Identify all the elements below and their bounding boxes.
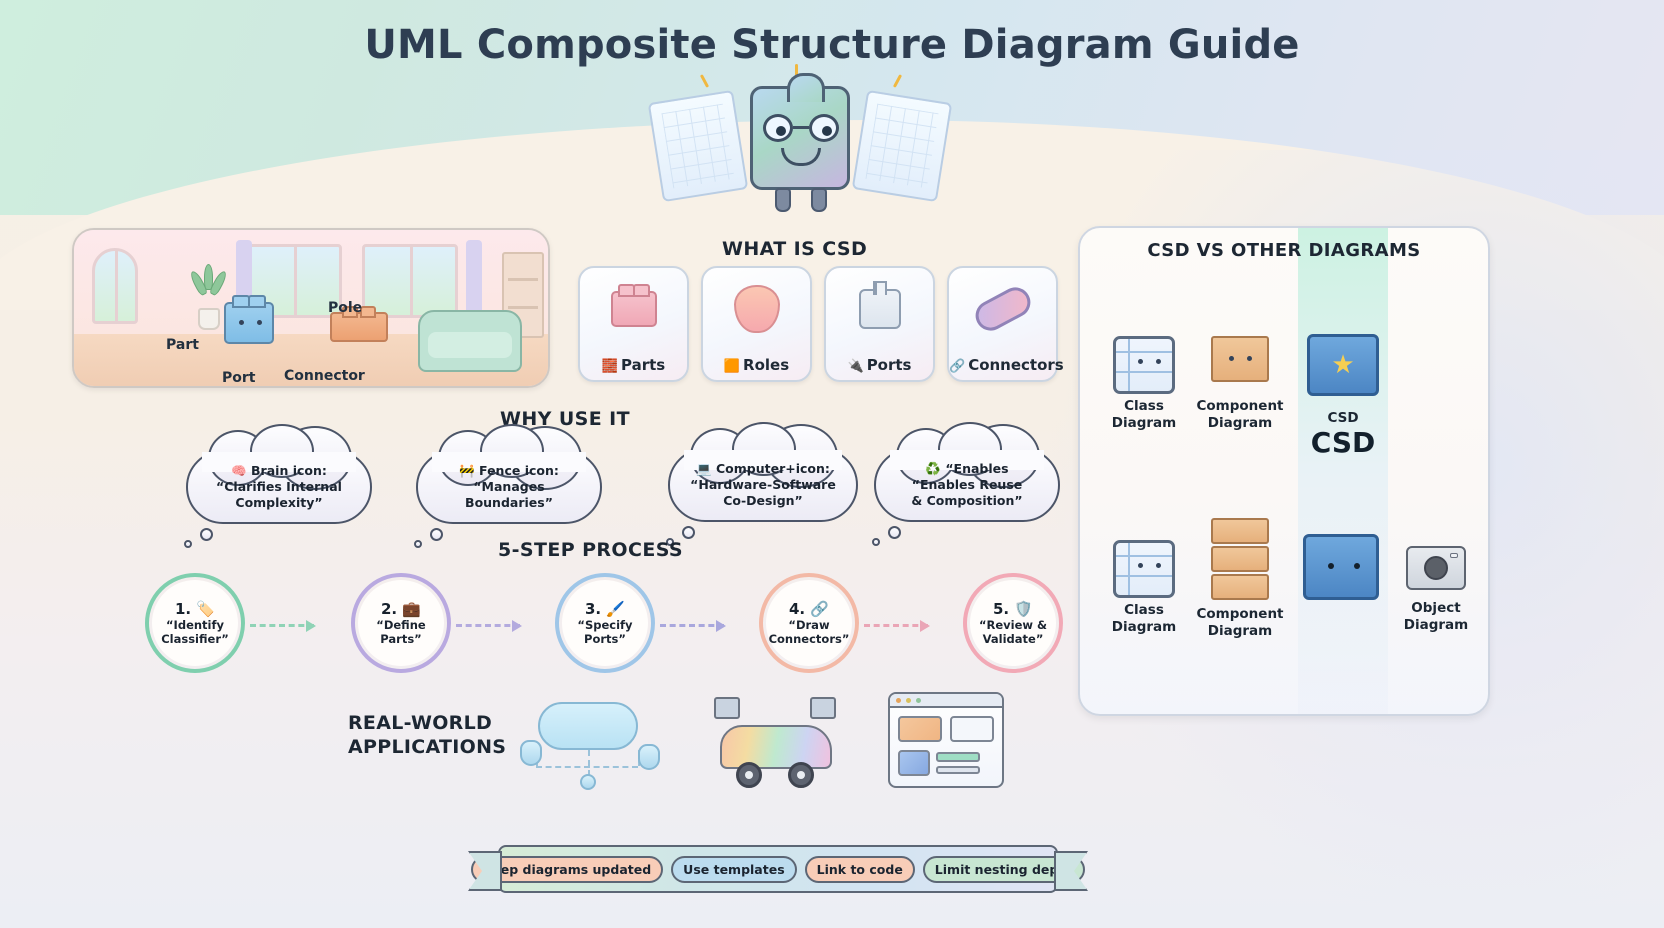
why-cloud-3: 💻 Computer+icon: “Hardware-Software Co-D… <box>668 448 858 522</box>
glasses-icon <box>763 114 839 142</box>
component-box-figure-icon <box>1211 336 1269 382</box>
computer-emoji: 💻 <box>696 461 712 476</box>
room-label-part-left: Part <box>166 337 199 353</box>
thought-bubble-small <box>682 526 695 539</box>
csd-concept-cards: 🧱Parts 🟧Roles 🔌Ports 🔗Connectors <box>578 266 1058 382</box>
connectors-emoji: 🔗 <box>949 359 965 374</box>
ports-emoji: 🔌 <box>848 359 864 374</box>
why-cloud-1-line1: Brain icon: <box>251 463 327 478</box>
section-heading-real-world: REAL-WORLD APPLICATIONS <box>348 712 538 760</box>
why-cloud-4-line1: “Enables <box>945 461 1008 476</box>
room-label-connector: Connector <box>284 368 365 384</box>
real-world-line2: APPLICATIONS <box>348 736 538 760</box>
sofa-icon <box>418 310 522 372</box>
label-line1: Class <box>1124 602 1164 618</box>
why-cloud-2-line1: Fence icon: <box>479 463 559 478</box>
blueprint-scroll-left-icon <box>648 90 749 202</box>
window-icon <box>362 244 458 318</box>
connector-block-orange <box>330 312 388 342</box>
csd-card-label: 🟧Roles <box>703 356 810 374</box>
class-diagram-figure-icon <box>1113 540 1175 598</box>
fence-emoji: 🚧 <box>459 463 475 478</box>
compare-item-component-diagram-row2[interactable]: ComponentDiagram <box>1192 518 1288 640</box>
mascot-legs <box>773 188 829 214</box>
blueprint-mascot-figure-icon <box>1303 534 1379 600</box>
csd-highlight-label: CSD <box>1298 426 1388 459</box>
smart-car-icon <box>700 695 850 790</box>
chip-icon-left <box>714 697 740 719</box>
why-cloud-4-line2: “Enables Reuse <box>912 477 1023 492</box>
why-cloud-1: 🧠 Brain icon: “Clarifies Internal Comple… <box>186 450 372 524</box>
class-diagram-figure-icon <box>1113 336 1175 394</box>
browser-window-icon <box>888 692 1004 788</box>
process-step-4[interactable]: 4. 🔗 “Draw Connectors” <box>766 580 852 666</box>
compare-item-csd-row1[interactable]: ★ CSD <box>1295 334 1391 427</box>
why-cloud-1-line3: Complexity” <box>235 495 322 510</box>
ribbon-tag-link-to-code[interactable]: Link to code <box>805 856 915 883</box>
compare-item-component-diagram-row1[interactable]: ComponentDiagram <box>1192 336 1288 432</box>
paperclip-link-icon <box>949 278 1056 340</box>
comparison-panel: CSD VS OTHER DIAGRAMS CSD ClassDiagram C… <box>1078 226 1490 716</box>
best-practices-ribbon: Keep diagrams updated Use templates Link… <box>498 845 1058 893</box>
roles-emoji: 🟧 <box>724 359 740 374</box>
label-line1: Class <box>1124 398 1164 414</box>
label-line1: CSD <box>1327 410 1358 426</box>
compare-item-object-diagram-row2[interactable]: ObjectDiagram <box>1388 546 1484 634</box>
csd-card-label: 🔗Connectors <box>949 356 1056 374</box>
arched-window-icon <box>92 248 138 324</box>
thought-bubble-small <box>430 528 443 541</box>
ribbon-tag-use-templates[interactable]: Use templates <box>671 856 796 883</box>
step-arrow-1-2 <box>250 624 314 627</box>
living-room-analogy-illustration <box>72 228 550 388</box>
label-line2: Diagram <box>1112 619 1176 635</box>
label-line1: Object <box>1411 600 1460 616</box>
recycle-emoji: ♻️ <box>925 461 941 476</box>
csd-card-label: 🔌Ports <box>826 356 933 374</box>
compare-item-class-diagram-row1[interactable]: ClassDiagram <box>1096 336 1192 432</box>
brain-emoji: 🧠 <box>231 463 247 478</box>
csd-card-parts[interactable]: 🧱Parts <box>578 266 689 382</box>
thought-bubble-small <box>888 526 901 539</box>
csd-card-connectors[interactable]: 🔗Connectors <box>947 266 1058 382</box>
why-cloud-1-line2: “Clarifies Internal <box>216 479 342 494</box>
csd-card-ports[interactable]: 🔌Ports <box>824 266 935 382</box>
chip-icon-right <box>810 697 836 719</box>
why-cloud-3-line1: Computer+icon: <box>716 461 830 476</box>
blueprint-star-figure-icon: ★ <box>1307 334 1379 396</box>
component-box-stack-figure-icon <box>1211 518 1269 600</box>
real-world-line1: REAL-WORLD <box>348 712 538 736</box>
why-cloud-2-line3: Boundaries” <box>465 495 553 510</box>
thought-bubble-tiny <box>184 540 192 548</box>
thought-bubble-tiny <box>872 538 880 546</box>
thought-bubble-small <box>200 528 213 541</box>
port-block-icon <box>826 278 933 340</box>
blueprint-scroll-right-icon <box>852 90 953 202</box>
why-cloud-4: ♻️ “Enables “Enables Reuse & Composition… <box>874 448 1060 522</box>
process-step-2[interactable]: 2. 💼 “Define Parts” <box>358 580 444 666</box>
step-arrow-3-4 <box>660 624 724 627</box>
compare-item-class-diagram-row2[interactable]: ClassDiagram <box>1096 540 1192 636</box>
parts-emoji: 🧱 <box>602 359 618 374</box>
theater-mask-icon <box>703 278 810 340</box>
compare-item-csd-mascot-row2[interactable] <box>1293 534 1389 600</box>
csd-card-roles[interactable]: 🟧Roles <box>701 266 812 382</box>
why-cloud-4-line3: & Composition” <box>911 493 1022 508</box>
part-block-blue <box>224 302 274 344</box>
room-label-pole: Pole <box>328 300 362 316</box>
label-line2: Diagram <box>1112 415 1176 431</box>
camera-figure-icon <box>1406 546 1466 590</box>
label-line1: Component <box>1196 606 1283 622</box>
csd-highlight-column <box>1298 228 1388 714</box>
brick-icon <box>580 278 687 340</box>
section-heading-5-step-process: 5-STEP PROCESS <box>498 539 683 561</box>
why-cloud-3-line2: “Hardware-Software <box>690 477 836 492</box>
thought-bubble-tiny <box>414 540 422 548</box>
label-line1: Component <box>1196 398 1283 414</box>
page-title: UML Composite Structure Diagram Guide <box>0 22 1664 68</box>
process-step-5[interactable]: 5. 🛡️ “Review & Validate” <box>970 580 1056 666</box>
process-step-1[interactable]: 1. 🏷️ “Identify Classifier” <box>152 580 238 666</box>
label-line2: Diagram <box>1208 623 1272 639</box>
cloud-network-icon <box>520 700 660 790</box>
puzzle-piece-mascot-icon <box>655 78 945 223</box>
label-line2: Diagram <box>1208 415 1272 431</box>
why-cloud-3-line3: Co-Design” <box>723 493 803 508</box>
step-arrow-2-3 <box>456 624 520 627</box>
step-arrow-4-5 <box>864 624 928 627</box>
process-step-3[interactable]: 3. 🖌️ “Specify Ports” <box>562 580 648 666</box>
room-label-port: Port <box>222 370 255 386</box>
panel-heading: CSD VS OTHER DIAGRAMS <box>1080 240 1488 261</box>
why-cloud-2: 🚧 Fence icon: “Manages Boundaries” <box>416 450 602 524</box>
section-heading-what-is-csd: WHAT IS CSD <box>722 238 867 260</box>
label-line2: Diagram <box>1404 617 1468 633</box>
csd-card-label: 🧱Parts <box>580 356 687 374</box>
plant-icon <box>192 264 226 330</box>
why-cloud-2-line2: “Manages <box>473 479 544 494</box>
